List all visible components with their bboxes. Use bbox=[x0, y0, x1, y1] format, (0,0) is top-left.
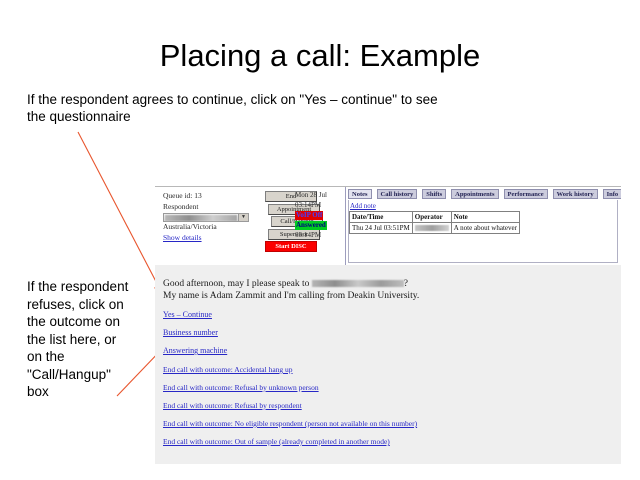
respondent-select[interactable]: ▼ bbox=[163, 213, 249, 222]
column-header-note: Note bbox=[451, 212, 519, 223]
script-greeting-prefix: Good afternoon, may I please speak to bbox=[163, 279, 309, 289]
call-status-panel: Mon 28 Jul 03:14PM VoIP Off Answered 03:… bbox=[295, 190, 343, 240]
column-header-operator: Operator bbox=[412, 212, 451, 223]
call-date: Mon 28 Jul bbox=[295, 190, 343, 200]
cell-datetime: Thu 24 Jul 03:51PM bbox=[350, 223, 413, 234]
tab-notes[interactable]: Notes bbox=[348, 189, 372, 199]
table-row: Thu 24 Jul 03:51PM A note about whatever bbox=[350, 223, 520, 234]
notes-table: Date/Time Operator Note Thu 24 Jul 03:51… bbox=[349, 211, 520, 234]
callout-text-refuse: If the respondent refuses, click on the … bbox=[27, 278, 131, 401]
tab-work-history[interactable]: Work history bbox=[553, 189, 598, 199]
column-header-datetime: Date/Time bbox=[350, 212, 413, 223]
callout-text-continue: If the respondent agrees to continue, cl… bbox=[27, 92, 457, 125]
tab-performance[interactable]: Performance bbox=[504, 189, 548, 199]
outcome-link-no-eligible-respondent[interactable]: End call with outcome: No eligible respo… bbox=[163, 419, 613, 428]
call-start-time: 03:14PM bbox=[295, 200, 343, 210]
voip-status-badge: VoIP Off bbox=[295, 211, 323, 220]
tab-call-history[interactable]: Call history bbox=[377, 189, 418, 199]
call-info-panel: Queue id: 13 Respondent ▼ Australia/Vict… bbox=[163, 191, 255, 243]
tab-appointments[interactable]: Appointments bbox=[451, 189, 498, 199]
embedded-app-screenshot: Queue id: 13 Respondent ▼ Australia/Vict… bbox=[155, 186, 621, 464]
outcome-link-refusal-respondent[interactable]: End call with outcome: Refusal by respon… bbox=[163, 401, 613, 410]
notes-pane: Notes Call history Shifts Appointments P… bbox=[345, 187, 621, 265]
script-greeting-suffix: ? bbox=[404, 279, 408, 289]
call-end-time: 03:14PM bbox=[295, 230, 343, 240]
outcome-link-business-number[interactable]: Business number bbox=[163, 328, 613, 337]
respondent-label: Respondent bbox=[163, 202, 255, 213]
outcome-link-answering-machine[interactable]: Answering machine bbox=[163, 346, 613, 355]
outcome-link-yes-continue[interactable]: Yes – Continue bbox=[163, 310, 613, 319]
add-note-link[interactable]: Add note bbox=[350, 202, 376, 210]
outcome-link-out-of-sample[interactable]: End call with outcome: Out of sample (al… bbox=[163, 437, 613, 446]
start-disc-button[interactable]: Start DISC bbox=[265, 241, 317, 252]
script-line-greeting: Good afternoon, may I please speak to ? bbox=[163, 278, 613, 290]
outcome-link-accidental-hang-up[interactable]: End call with outcome: Accidental hang u… bbox=[163, 365, 613, 374]
page-title: Placing a call: Example bbox=[0, 38, 640, 74]
chevron-down-icon[interactable]: ▼ bbox=[238, 214, 248, 221]
outcome-link-refusal-unknown-person[interactable]: End call with outcome: Refusal by unknow… bbox=[163, 383, 613, 392]
cell-operator bbox=[412, 223, 451, 234]
tab-strip: Notes Call history Shifts Appointments P… bbox=[348, 189, 621, 200]
tab-shifts[interactable]: Shifts bbox=[422, 189, 446, 199]
script-line-introduction: My name is Adam Zammit and I'm calling f… bbox=[163, 290, 613, 302]
script-area: Good afternoon, may I please speak to ? … bbox=[163, 278, 613, 446]
queue-id-label: Queue id: 13 bbox=[163, 191, 255, 202]
tab-info[interactable]: Info bbox=[603, 189, 621, 199]
timezone-label: Australia/Victoria bbox=[163, 222, 255, 233]
cell-note: A note about whatever bbox=[451, 223, 519, 234]
arrow-line-top bbox=[78, 132, 163, 295]
respondent-name-redaction bbox=[165, 215, 237, 221]
table-header-row: Date/Time Operator Note bbox=[350, 212, 520, 223]
operator-redaction bbox=[415, 225, 449, 231]
call-status-badge: Answered bbox=[295, 221, 327, 230]
app-header-strip: Queue id: 13 Respondent ▼ Australia/Vict… bbox=[155, 186, 621, 265]
respondent-name-redaction-inline bbox=[312, 280, 404, 287]
show-details-link[interactable]: Show details bbox=[163, 233, 202, 244]
